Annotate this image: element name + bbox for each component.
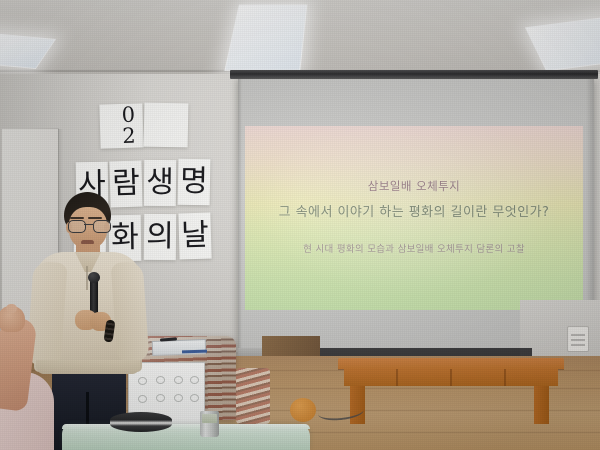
bench-top [338, 358, 564, 369]
wall-sign-char-8: 날 [178, 213, 211, 260]
glasses-icon [68, 220, 109, 231]
orange-object [290, 398, 316, 422]
slide-question: 그 속에서 이야기 하는 평화의 길이란 무엇인가? [279, 201, 550, 220]
wall-sign-char-4: 명 [178, 159, 211, 206]
bench-apron [344, 369, 558, 386]
projected-slide: 삼보일배 오체투지 그 속에서 이야기 하는 평화의 길이란 무엇인가? 현 시… [245, 126, 583, 310]
wall-outlet-icon[interactable] [567, 326, 589, 352]
slide-title: 삼보일배 오체투지 [368, 178, 460, 194]
speaker-shirt-hem [36, 360, 140, 374]
bench-leg-right [534, 386, 549, 424]
screen-edge-left [238, 79, 242, 356]
speaker-sleeve-right [111, 261, 150, 363]
cup-liquid [202, 414, 217, 423]
led-panel-center-icon [224, 5, 307, 71]
whiteboard-on-table[interactable] [152, 339, 206, 356]
wall-sign-year-left: 2 0 2 4 [99, 103, 143, 148]
slide-subtitle: 현 시대 평화의 모습과 삼보일배 오체투지 담론의 고찰 [303, 241, 525, 255]
dark-plates [110, 412, 172, 432]
screen-roller-bar[interactable] [230, 70, 598, 79]
speaker-brow-left [70, 217, 84, 219]
audience-finger [6, 304, 17, 313]
speaker-brow-right [88, 217, 102, 219]
microphone-head-icon[interactable] [88, 272, 100, 283]
lecture-room-photo: 2 0 2 4 사 람 생 명 평 화 의 날 삼보일배 오체투지 그 속에서 … [0, 0, 600, 450]
low-wooden-bench [338, 358, 564, 426]
foreground-table-edge [62, 424, 310, 429]
patterned-chair [236, 368, 270, 424]
wall-sign-year-right [144, 103, 189, 148]
